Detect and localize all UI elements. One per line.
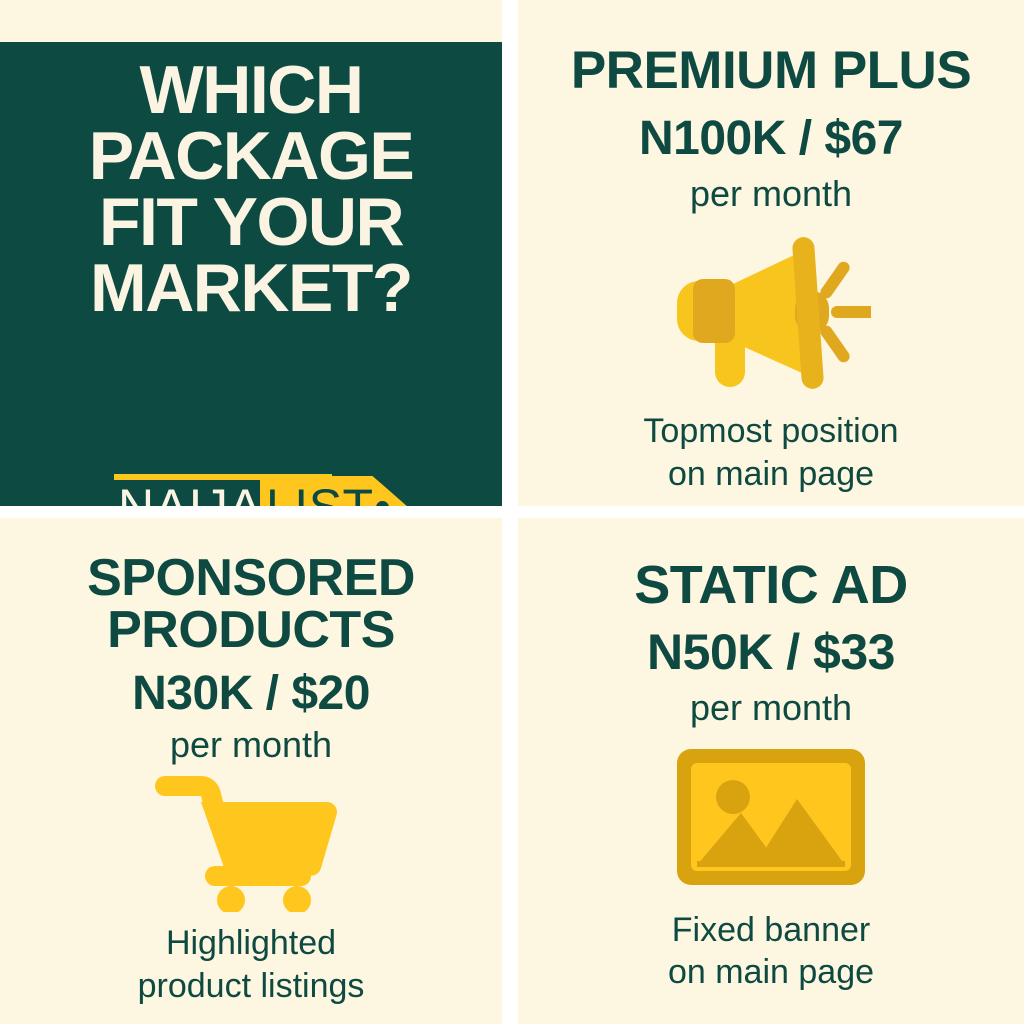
package-title-line-1: PREMIUM PLUS — [532, 44, 1010, 97]
package-title-line-1: SPONSORED — [14, 552, 488, 604]
package-period: per month — [690, 686, 852, 729]
hero-card: WHICH PACKAGE FIT YOUR MARKET? NAIJA LIS… — [0, 42, 502, 506]
package-description-line-1: Topmost position — [532, 410, 1010, 453]
package-price: N50K / $33 — [647, 624, 895, 682]
package-description: Highlighted product listings — [14, 922, 488, 1007]
package-title: PREMIUM PLUS — [532, 44, 1010, 97]
package-description: Fixed banner on main page — [532, 909, 1010, 994]
package-period: per month — [690, 172, 852, 215]
megaphone-icon — [671, 229, 871, 394]
package-price: N30K / $20 — [132, 666, 370, 721]
hero-headline-line-4: MARKET? — [16, 256, 486, 322]
logo-word-list: LIST — [266, 480, 374, 506]
hero-quadrant: WHICH PACKAGE FIT YOUR MARKET? NAIJA LIS… — [0, 0, 502, 506]
hero-headline-line-2: PACKAGE — [16, 124, 486, 190]
package-card-premium-plus[interactable]: PREMIUM PLUS N100K / $67 per month — [518, 0, 1024, 506]
package-period: per month — [170, 723, 332, 766]
package-description-line-1: Highlighted — [14, 922, 488, 965]
image-placeholder-icon — [675, 747, 867, 887]
package-card-sponsored-products[interactable]: SPONSORED PRODUCTS N30K / $20 per month — [0, 518, 502, 1024]
package-description-line-2: on main page — [532, 453, 1010, 496]
shopping-cart-icon — [151, 772, 351, 912]
package-description-line-2: product listings — [14, 965, 488, 1008]
naijalist-logo: NAIJA LIST — [108, 474, 408, 506]
package-title-line-1: STATIC AD — [532, 558, 1010, 612]
pricing-poster: WHICH PACKAGE FIT YOUR MARKET? NAIJA LIS… — [0, 0, 1024, 1024]
package-card-static-ad[interactable]: STATIC AD N50K / $33 per month — [518, 518, 1024, 1024]
package-title: SPONSORED PRODUCTS — [14, 552, 488, 656]
package-description-line-1: Fixed banner — [532, 909, 1010, 952]
package-title: STATIC AD — [532, 558, 1010, 612]
hero-headline: WHICH PACKAGE FIT YOUR MARKET? — [0, 58, 502, 322]
package-title-line-2: PRODUCTS — [14, 604, 488, 656]
hero-headline-line-1: WHICH — [16, 58, 486, 124]
package-description: Topmost position on main page — [532, 410, 1010, 495]
package-price: N100K / $67 — [639, 111, 903, 166]
logo-word-naija: NAIJA — [118, 480, 262, 506]
package-description-line-2: on main page — [532, 951, 1010, 994]
hero-headline-line-3: FIT YOUR — [16, 190, 486, 256]
